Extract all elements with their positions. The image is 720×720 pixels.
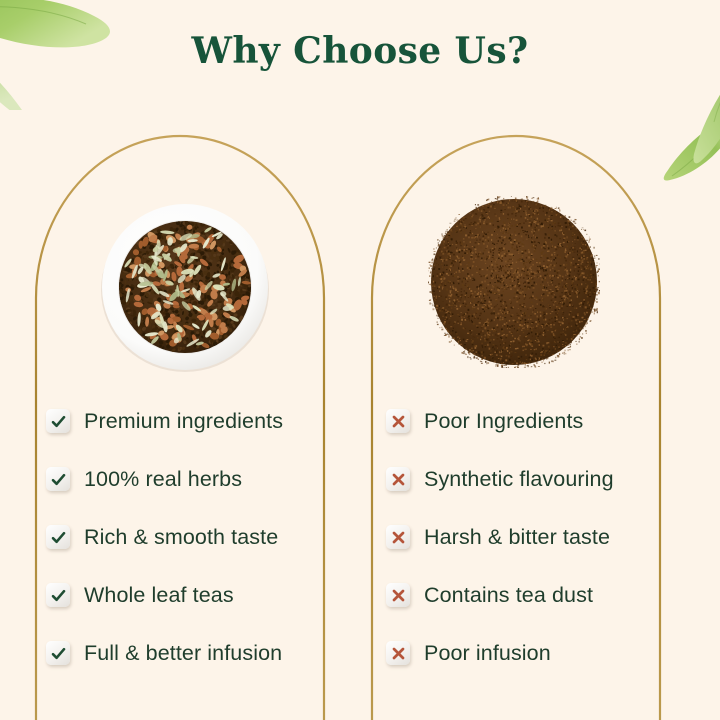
list-item-label: 100% real herbs — [84, 467, 242, 492]
list-item-label: Premium ingredients — [84, 409, 283, 434]
cross-icon — [386, 409, 410, 433]
list-item[interactable]: Synthetic flavouring — [386, 450, 706, 508]
list-item-label: Synthetic flavouring — [424, 467, 614, 492]
list-item[interactable]: Full & better infusion — [46, 624, 366, 682]
check-icon — [46, 467, 70, 491]
list-item-label: Full & better infusion — [84, 641, 282, 666]
list-item[interactable]: Whole leaf teas — [46, 566, 366, 624]
page-title: Why Choose Us? — [0, 30, 720, 72]
cross-icon — [386, 467, 410, 491]
list-item[interactable]: Rich & smooth taste — [46, 508, 366, 566]
list-item[interactable]: Poor Ingredients — [386, 392, 706, 450]
list-item[interactable]: 100% real herbs — [46, 450, 366, 508]
cross-icon — [386, 525, 410, 549]
list-item[interactable]: Premium ingredients — [46, 392, 366, 450]
bowl-of-whole-leaf-tea-image — [96, 198, 274, 376]
check-icon — [46, 409, 70, 433]
feature-list-bad: Poor Ingredients Synthetic flavouring Ha… — [386, 392, 706, 682]
feature-list-good: Premium ingredients 100% real herbs Rich… — [46, 392, 366, 682]
list-item[interactable]: Contains tea dust — [386, 566, 706, 624]
cross-icon — [386, 641, 410, 665]
list-item-label: Contains tea dust — [424, 583, 593, 608]
cross-icon — [386, 583, 410, 607]
list-item-label: Whole leaf teas — [84, 583, 234, 608]
list-item-label: Poor infusion — [424, 641, 551, 666]
why-choose-us-infographic: Why Choose Us? — [0, 0, 720, 720]
check-icon — [46, 525, 70, 549]
list-item-label: Rich & smooth taste — [84, 525, 278, 550]
list-item-label: Harsh & bitter taste — [424, 525, 610, 550]
list-item[interactable]: Poor infusion — [386, 624, 706, 682]
check-icon — [46, 641, 70, 665]
check-icon — [46, 583, 70, 607]
list-item[interactable]: Harsh & bitter taste — [386, 508, 706, 566]
pile-of-tea-dust-image — [428, 196, 600, 368]
list-item-label: Poor Ingredients — [424, 409, 583, 434]
